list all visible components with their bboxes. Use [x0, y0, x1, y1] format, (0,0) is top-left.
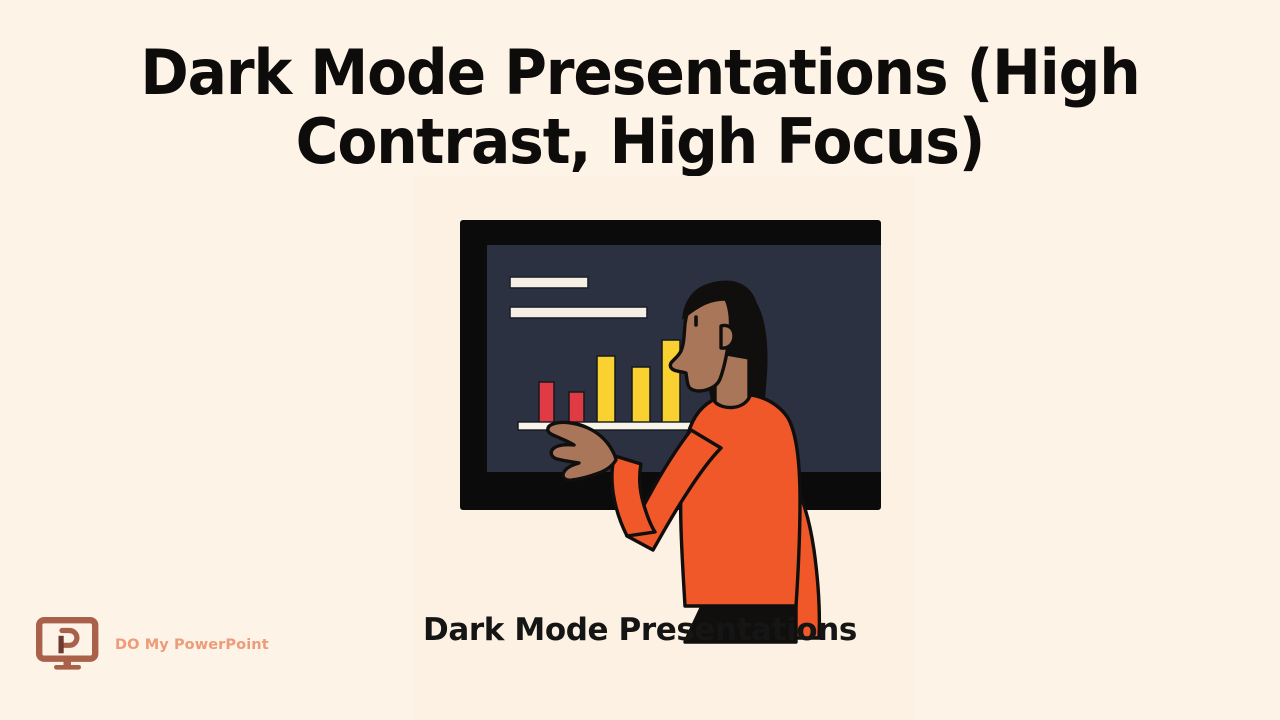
page-title-line-1: Dark Mode Presentations (High — [38, 38, 1241, 107]
brand-logo[interactable]: DO My PowerPoint — [36, 617, 269, 673]
page-title-line-2: Contrast, High Focus) — [38, 107, 1241, 176]
brand-name: DO My PowerPoint — [115, 637, 269, 653]
page-title: Dark Mode Presentations (High Contrast, … — [38, 38, 1241, 177]
monitor-p-icon — [36, 617, 102, 673]
